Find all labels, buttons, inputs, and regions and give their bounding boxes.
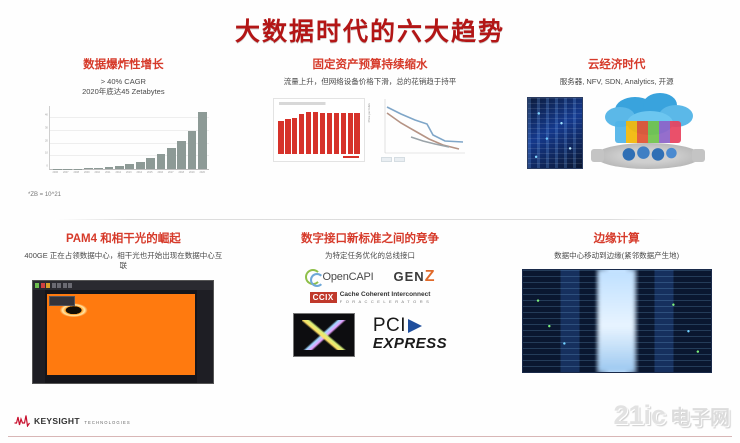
chart-bar (125, 164, 134, 169)
chart-bar (177, 141, 186, 169)
genz-suffix: Z (425, 268, 436, 285)
x-tick-label: 2014 (135, 171, 144, 174)
opencapi-wordmark: OpenCAPI (323, 271, 374, 283)
chart-footnote: *ZB = 10^21 (28, 192, 237, 198)
x-tick-label: 2006 (51, 171, 60, 174)
x-tick-label: 2020 (198, 171, 207, 174)
chart-bar (278, 121, 284, 154)
chart-bar (84, 168, 93, 169)
capex-bar-chart (273, 98, 365, 162)
x-tick-label: 2011 (103, 171, 112, 174)
x-tick-label: 2018 (177, 171, 186, 174)
chart-y-axis-label: Price per Gb/s (367, 104, 371, 123)
chart-bar (320, 113, 326, 154)
rack-status-lights (523, 270, 711, 372)
chart-bar (74, 169, 83, 170)
opencapi-rings-icon (305, 269, 321, 285)
chart-bar (167, 148, 176, 169)
toolbar-icon (57, 283, 61, 288)
toolbar-icon (63, 283, 67, 288)
pcie-arrow-icon (408, 319, 422, 333)
panel-subtitle: 服务器, NFV, SDN, Analytics, 开源 (503, 77, 730, 88)
brand-tagline: TECHNOLOGIES (84, 420, 130, 425)
scope-left-panel (33, 290, 45, 383)
trends-row-bottom: PAM4 和相干光的崛起 400GE 正在占领数据中心，相干光也开始出现在数据中… (0, 232, 740, 402)
toolbar-icon (68, 283, 72, 288)
pci-express-logo: PCI EXPRESS (373, 316, 447, 353)
watermark-latin: 21ic (613, 400, 666, 431)
oscilloscope-screenshot (32, 280, 214, 384)
x-tick-label: 2017 (166, 171, 175, 174)
chart-bar (313, 112, 319, 155)
slide-root: 大数据时代的六大趋势 数据爆炸性增长 > 40% CAGR 2020年底达45 … (0, 0, 740, 443)
y-tick: 0 (46, 165, 47, 168)
chart-bar (334, 113, 340, 154)
panel-interface-standards: 数字接口新标准之间的竞争 为特定任务优化的总线接口 OpenCAPI GENZ … (247, 232, 494, 402)
chart-bar (292, 118, 298, 155)
y-tick: 30 (45, 126, 48, 129)
x-tick-label: 2007 (61, 171, 70, 174)
site-watermark: 21ic 电子网 (613, 400, 730, 431)
chart-bar (146, 158, 155, 169)
chart-bars (51, 106, 209, 169)
price-decline-line-chart: Price per Gb/s (371, 97, 467, 163)
brand-name: KEYSIGHT (34, 416, 80, 426)
x-tick-label: 2010 (93, 171, 102, 174)
panel-title: 边缘计算 (503, 232, 730, 248)
standards-logos: OpenCAPI GENZ CCIX Cache Coherent Interc… (257, 268, 484, 356)
genz-logo: GENZ (394, 268, 436, 286)
ccix-tagline-line-1: Cache Coherent Interconnect (340, 291, 431, 298)
panel-title: PAM4 和相干光的崛起 (10, 232, 237, 248)
server-rack-photo (527, 97, 583, 169)
legend-swatch-40ge (394, 157, 405, 162)
footer-divider (8, 436, 732, 437)
keysight-waveform-icon (14, 414, 30, 427)
chart-bar (136, 162, 145, 170)
panel-subtitle-line-2: 2020年底达45 Zetabytes (10, 87, 237, 98)
trends-row-top: 数据爆炸性增长 > 40% CAGR 2020年底达45 Zetabytes 0… (0, 58, 740, 208)
chart-bar (306, 112, 312, 154)
pcie-top-line: PCI (373, 316, 447, 335)
panel-subtitle: 为特定任务优化的总线接口 (257, 251, 484, 262)
panel-subtitle: 数据中心移动到边缘(紧邻数据产生地) (503, 251, 730, 262)
row-divider (55, 219, 685, 220)
datasphere-bar-chart: 0 10 20 30 40 20062007200820092010201120… (36, 106, 211, 184)
toolbar-icon (41, 283, 45, 288)
keysight-logo: KEYSIGHT TECHNOLOGIES (14, 411, 131, 429)
keysight-wordmark: KEYSIGHT TECHNOLOGIES (34, 411, 131, 429)
chart-bar (299, 114, 305, 154)
y-tick: 20 (45, 139, 48, 142)
chart-x-axis-labels: 2006200720082009201020112012201320142015… (49, 171, 209, 174)
panel-title: 数据爆炸性增长 (10, 58, 237, 74)
chart-source-mark (343, 156, 359, 159)
chart-plot-area: 0 10 20 30 40 (49, 106, 209, 170)
express-wordmark: EXPRESS (373, 335, 447, 352)
chart-bar (354, 113, 360, 154)
data-center-corridor-photo (522, 269, 712, 373)
panel-subtitle: 400GE 正在占领数据中心，相干光也开始出现在数据中心互联 (10, 251, 237, 273)
cloud-visuals (503, 93, 730, 173)
chart-bar (341, 113, 347, 154)
chart-bar (115, 166, 124, 170)
chart-legend (381, 157, 405, 162)
chart-bar (198, 112, 207, 170)
scope-right-panel (197, 290, 213, 383)
legend-swatch-10ge (381, 157, 392, 162)
page-title: 大数据时代的六大趋势 (0, 12, 740, 48)
chart-bar (94, 168, 103, 170)
ccix-logo: CCIX Cache Coherent Interconnect F O R A… (310, 291, 431, 303)
cloud-computing-illustration (589, 93, 707, 173)
x-tick-label: 2012 (114, 171, 123, 174)
x-tick-label: 2009 (82, 171, 91, 174)
panel-title: 数字接口新标准之间的竞争 (257, 232, 484, 248)
watermark-chinese: 电子网 (670, 401, 730, 430)
capex-charts: Price per Gb/s (257, 97, 484, 163)
pam4-eye-diagram (47, 294, 195, 375)
opencapi-logo: OpenCAPI (305, 269, 374, 285)
panel-title: 云经济时代 (503, 58, 730, 74)
pci-wordmark: PCI (373, 316, 406, 335)
y-tick: 40 (45, 114, 48, 117)
x-tick-label: 2013 (124, 171, 133, 174)
scope-toolbar (33, 281, 213, 290)
chart-bar (188, 131, 197, 169)
panel-cloud-economy: 云经济时代 服务器, NFV, SDN, Analytics, 开源 (493, 58, 740, 208)
panel-data-growth: 数据爆炸性增长 > 40% CAGR 2020年底达45 Zetabytes 0… (0, 58, 247, 208)
chart-bar (348, 113, 354, 154)
chart-bars (278, 108, 360, 154)
y-tick: 10 (45, 152, 48, 155)
line-chart-svg (371, 97, 467, 163)
chart-bar (105, 167, 114, 169)
x-tick-label: 2016 (156, 171, 165, 174)
ccix-tagline-line-2: F O R A C C E L E R A T O R S (340, 299, 431, 304)
x-tick-label: 2008 (72, 171, 81, 174)
panel-capex-decline: 固定资产预算持续缩水 流量上升，但网络设备价格下滑，总的花销趋于持平 Price… (247, 58, 494, 208)
panel-subtitle: 流量上升，但网络设备价格下滑，总的花销趋于持平 (257, 77, 484, 88)
chart-bar (327, 113, 333, 154)
logo-row-bottom: PCI EXPRESS (293, 313, 447, 357)
chart-bar (157, 154, 166, 169)
panel-subtitle-line-1: > 40% CAGR (10, 77, 237, 88)
panel-edge-computing: 边缘计算 数据中心移动到边缘(紧邻数据产生地) (493, 232, 740, 402)
chart-bar (285, 119, 291, 154)
x-tick-label: 2019 (187, 171, 196, 174)
toolbar-icon (35, 283, 39, 288)
user-figures (621, 139, 677, 161)
chart-header-bar (279, 102, 359, 105)
genz-prefix: GEN (394, 269, 425, 284)
panel-title: 固定资产预算持续缩水 (257, 58, 484, 74)
ccix-tagline: Cache Coherent Interconnect F O R A C C … (340, 291, 431, 303)
chart-bar (53, 169, 62, 170)
x-tick-label: 2015 (145, 171, 154, 174)
logo-row-top: OpenCAPI GENZ (305, 268, 436, 286)
chart-bar (63, 169, 72, 170)
ccix-wordmark: CCIX (310, 292, 337, 303)
measurement-label (49, 296, 75, 306)
panel-pam4-coherent: PAM4 和相干光的崛起 400GE 正在占领数据中心，相干光也开始出现在数据中… (0, 232, 247, 402)
toolbar-icon (46, 283, 50, 288)
toolbar-icon (52, 283, 56, 288)
constellation-diagram-thumbnail (293, 313, 355, 357)
